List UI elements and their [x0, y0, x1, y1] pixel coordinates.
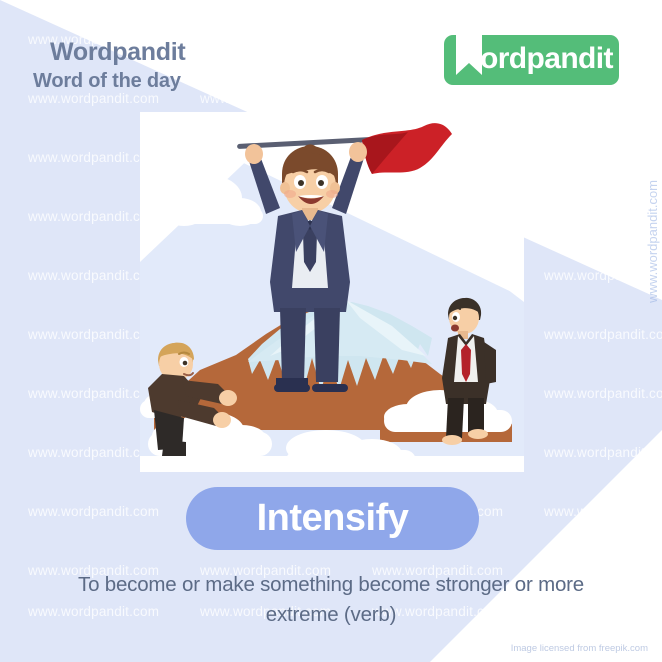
word-definition: To become or make something become stron… — [42, 570, 620, 630]
word-badge: Intensify — [186, 487, 479, 550]
brand-title: Wordpandit — [50, 38, 185, 67]
logo-text: ordpandit — [480, 42, 613, 76]
word-term: Intensify — [257, 497, 409, 540]
wordpandit-logo[interactable]: ordpandit — [444, 35, 619, 85]
brand-subtitle: Word of the day — [33, 70, 181, 93]
card-header: Wordpandit Word of the day ordpandit — [0, 0, 662, 112]
image-credit: Image licensed from freepik.com — [511, 643, 648, 654]
bookmark-w-icon — [456, 29, 482, 75]
word-of-the-day-card: www.wordpandit.comwww.wordpandit.comwww.… — [0, 0, 662, 662]
illustration-businessman-on-mountain-peak — [140, 112, 524, 472]
watermark-vertical: www.wordpandit.com — [645, 180, 660, 303]
